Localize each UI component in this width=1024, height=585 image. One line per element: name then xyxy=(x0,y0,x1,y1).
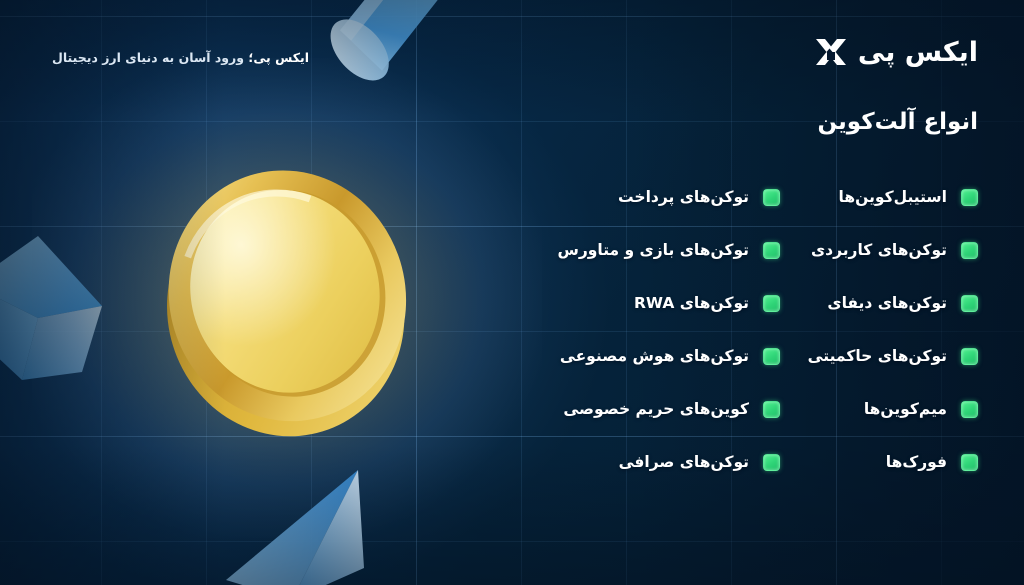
gold-coin-3d xyxy=(142,158,432,438)
altcoin-types-column-right: استیبل‌کوین‌ها توکن‌های کاربردی توکن‌های… xyxy=(808,184,978,476)
list-item-label: توکن‌های پرداخت xyxy=(618,190,749,206)
list-item-label: توکن‌های RWA xyxy=(634,296,749,312)
green-square-bullet-icon xyxy=(961,295,978,312)
tagline: ایکس پی؛ ورود آسان به دنیای ارز دیجیتال xyxy=(52,50,309,66)
green-square-bullet-icon xyxy=(763,348,780,365)
list-item-label: میم‌کوین‌ها xyxy=(864,402,947,418)
green-square-bullet-icon xyxy=(763,189,780,206)
list-item-label: توکن‌های حاکمیتی xyxy=(808,349,947,365)
green-square-bullet-icon xyxy=(763,295,780,312)
list-item[interactable]: فورک‌ها xyxy=(808,449,978,476)
x-logo-icon xyxy=(815,36,847,68)
list-item[interactable]: توکن‌های صرافی xyxy=(557,449,780,476)
list-item-label: کوین‌های حریم خصوصی xyxy=(563,402,749,418)
tagline-lead: ایکس پی؛ xyxy=(248,50,309,65)
list-item[interactable]: توکن‌های RWA xyxy=(557,290,780,317)
altcoin-types-column-middle: توکن‌های پرداخت توکن‌های بازی و متاورس ت… xyxy=(557,184,780,476)
list-item[interactable]: میم‌کوین‌ها xyxy=(808,396,978,423)
blue-cone-3d xyxy=(196,448,392,585)
list-item[interactable]: توکن‌های دیفای xyxy=(808,290,978,317)
list-item-label: فورک‌ها xyxy=(886,455,947,471)
brand-logo[interactable]: ایکس پی xyxy=(815,36,978,68)
infographic-canvas: ایکس پی انواع آلت‌کوین ایکس پی؛ ورود آسا… xyxy=(0,0,1024,585)
list-item[interactable]: توکن‌های حاکمیتی xyxy=(808,343,978,370)
green-square-bullet-icon xyxy=(763,401,780,418)
list-item-label: توکن‌های بازی و متاورس xyxy=(557,243,749,259)
green-square-bullet-icon xyxy=(961,189,978,206)
green-square-bullet-icon xyxy=(961,401,978,418)
page-title: انواع آلت‌کوین xyxy=(817,108,978,137)
list-item[interactable]: توکن‌های بازی و متاورس xyxy=(557,237,780,264)
list-item-label: استیبل‌کوین‌ها xyxy=(839,190,947,206)
list-item-label: توکن‌های صرافی xyxy=(619,455,749,471)
list-item[interactable]: توکن‌های هوش مصنوعی xyxy=(557,343,780,370)
list-item[interactable]: توکن‌های کاربردی xyxy=(808,237,978,264)
blue-octahedron-3d xyxy=(0,222,112,382)
list-item[interactable]: استیبل‌کوین‌ها xyxy=(808,184,978,211)
green-square-bullet-icon xyxy=(961,454,978,471)
green-square-bullet-icon xyxy=(763,242,780,259)
list-item-label: توکن‌های دیفای xyxy=(827,296,947,312)
list-item-label: توکن‌های کاربردی xyxy=(811,243,947,259)
green-square-bullet-icon xyxy=(961,348,978,365)
green-square-bullet-icon xyxy=(961,242,978,259)
list-item[interactable]: توکن‌های پرداخت xyxy=(557,184,780,211)
list-item[interactable]: کوین‌های حریم خصوصی xyxy=(557,396,780,423)
blue-cylinder-3d xyxy=(290,0,512,140)
list-item-label: توکن‌های هوش مصنوعی xyxy=(560,349,749,365)
brand-name: ایکس پی xyxy=(858,39,978,66)
tagline-rest: ورود آسان به دنیای ارز دیجیتال xyxy=(52,50,248,65)
green-square-bullet-icon xyxy=(763,454,780,471)
